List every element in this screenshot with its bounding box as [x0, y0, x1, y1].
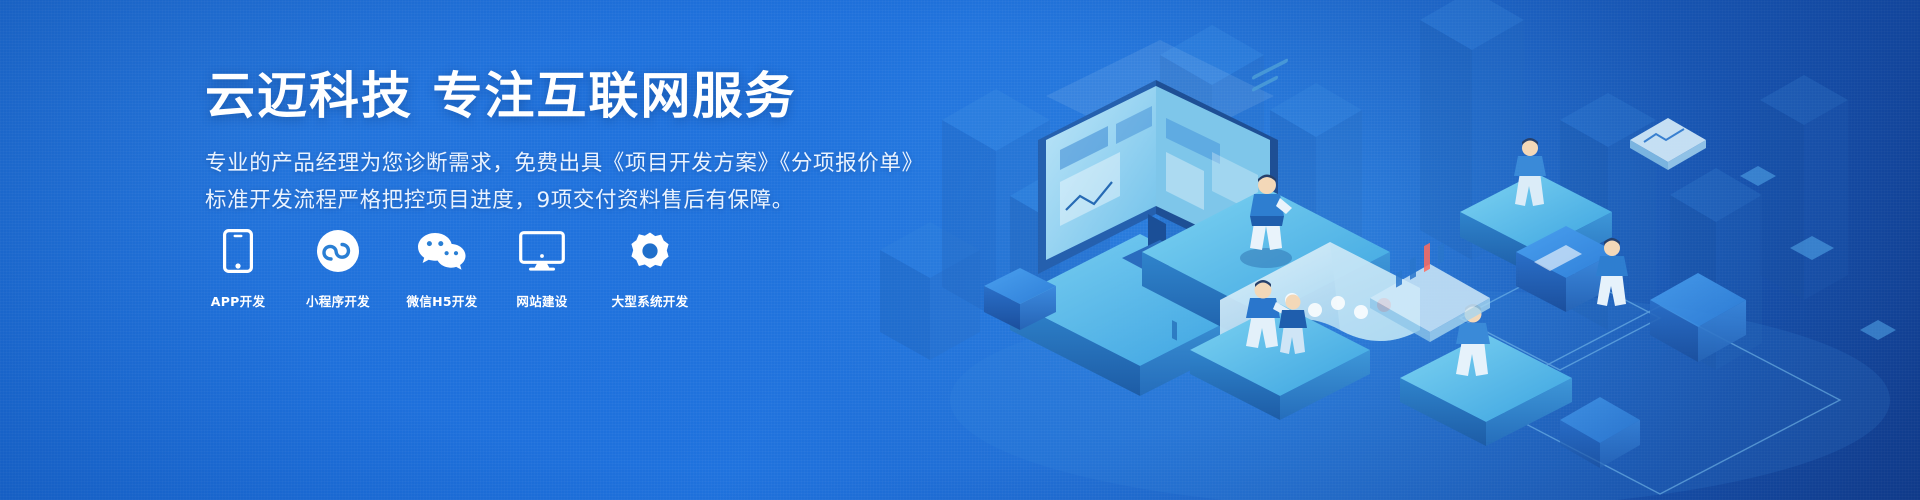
- service-label-enterprise-system: 大型系统开发: [612, 291, 689, 310]
- service-list: APP开发 小程序开发 微信: [202, 228, 698, 310]
- banner-content: 云迈科技 专注互联网服务 专业的产品经理为您诊断需求，免费出具《项目开发方案》《…: [205, 66, 1105, 220]
- page-title: 云迈科技 专注互联网服务: [205, 66, 1105, 127]
- service-label-app: APP开发: [211, 291, 266, 310]
- smartphone-icon: [223, 228, 253, 274]
- mini-program-icon: [316, 228, 360, 274]
- service-item-wechat-h5[interactable]: 微信H5开发: [402, 228, 482, 310]
- gear-icon: [628, 228, 672, 274]
- service-item-mini-program[interactable]: 小程序开发: [298, 228, 378, 310]
- hero-banner: 云迈科技 专注互联网服务 专业的产品经理为您诊断需求，免费出具《项目开发方案》《…: [0, 0, 1920, 500]
- service-item-website[interactable]: 网站建设: [506, 228, 578, 310]
- service-label-mini-program: 小程序开发: [306, 291, 370, 310]
- service-item-enterprise-system[interactable]: 大型系统开发: [602, 228, 698, 310]
- service-label-wechat-h5: 微信H5开发: [407, 291, 478, 310]
- service-item-app[interactable]: APP开发: [202, 228, 274, 310]
- service-label-website: 网站建设: [516, 291, 567, 310]
- monitor-icon: [519, 228, 565, 274]
- wechat-icon: [416, 228, 468, 274]
- banner-subtitle-line-1: 专业的产品经理为您诊断需求，免费出具《项目开发方案》《分项报价单》: [205, 146, 1105, 183]
- banner-subtitle-line-2: 标准开发流程严格把控项目进度，9项交付资料售后有保障。: [205, 183, 1105, 220]
